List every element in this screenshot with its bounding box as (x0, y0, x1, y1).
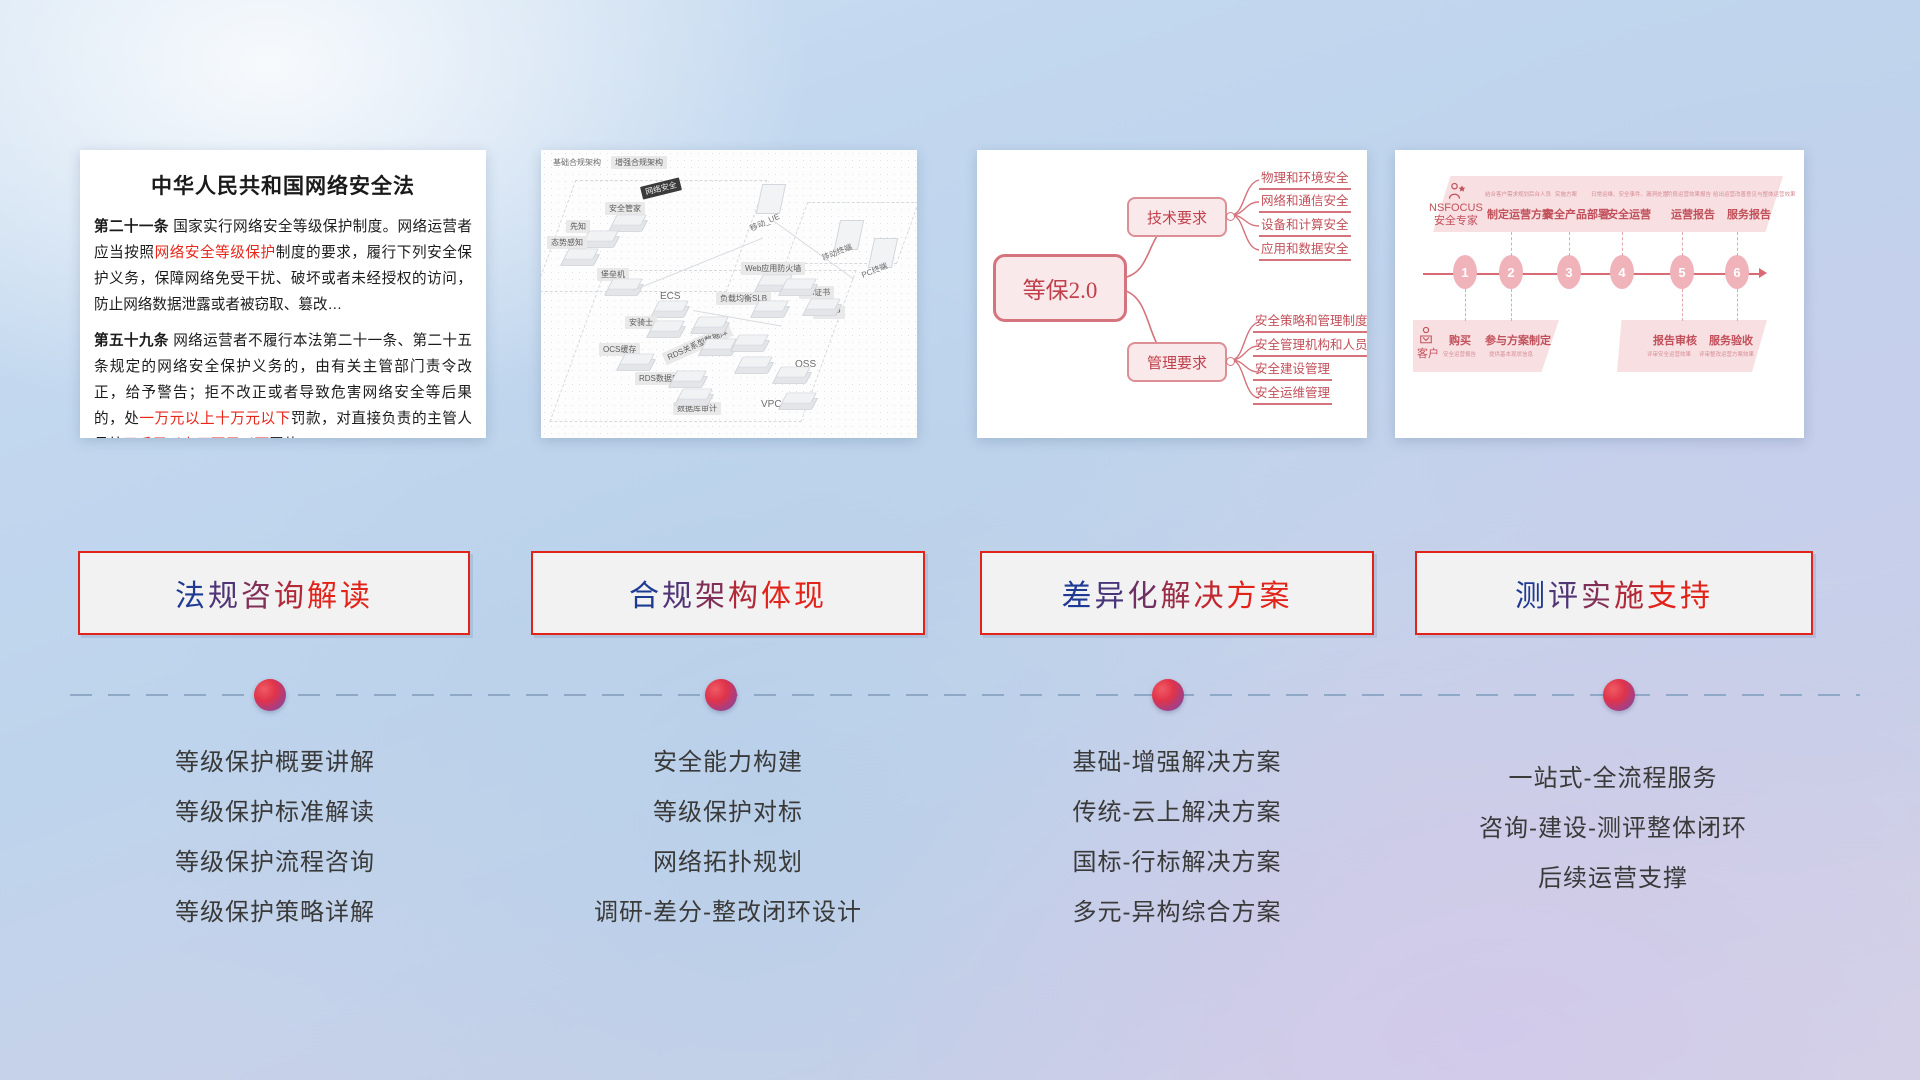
mindmap-branch-management[interactable]: 管理要求 (1127, 342, 1227, 382)
process-top-sub-2: 实施方案 (1555, 190, 1577, 198)
mindmap-collapse-icon-technical[interactable] (1226, 212, 1235, 221)
arch-node-label-waf: Web应用防火墙 (741, 262, 805, 275)
process-step-6-marker[interactable]: 6 (1725, 255, 1749, 289)
headline-box-3[interactable]: 差异化解决方案 (980, 551, 1374, 635)
process-top-sub-4: 阶段运营效果报告 (1667, 190, 1711, 198)
arch-tab-basic[interactable]: 基础合规架构 (549, 156, 605, 169)
arch-icon-ecs-pool-4 (737, 358, 771, 378)
slide-canvas: 中华人民共和国网络安全法 第二十一条 国家实行网络安全等级保护制度。网络运营者应… (0, 0, 1920, 1080)
headline-box-4[interactable]: 测评实施支持 (1415, 551, 1813, 635)
mindmap-leaf-app-data: 应用和数据安全 (1259, 238, 1351, 261)
arch-icon-ecs-pool-1 (693, 318, 727, 338)
law-paragraph-2: 第五十九条 网络运营者不履行本法第二十一条、第二十五条规定的网络安全保护义务的，… (94, 328, 472, 438)
process-bottom-label-5: 报告审核 (1653, 332, 1697, 348)
process-top-sub-1: 结合客户需求规划后台人员 (1485, 190, 1551, 198)
arch-node-label-security-steward: 安全管家 (605, 202, 645, 215)
mindmap-leaf-org-personnel: 安全管理机构和人员 (1253, 334, 1367, 357)
headline-row: 法规咨询解读 合规架构体现 差异化解决方案 测评实施支持 (0, 551, 1920, 635)
law-title: 中华人民共和国网络安全法 (94, 170, 472, 200)
list-item: 国标-行标解决方案 (977, 838, 1377, 888)
process-step-5-marker[interactable]: 5 (1670, 255, 1694, 289)
process-bottom-label-2: 参与方案制定 (1485, 332, 1551, 348)
process-step-2-marker[interactable]: 2 (1499, 255, 1523, 289)
list-item: 等级保护概要讲解 (75, 738, 475, 788)
process-bottom-sub-5: 评审安全运营效果 (1647, 350, 1691, 358)
detail-column-4: 一站式-全流程服务 咨询-建设-测评整体闭环 后续运营支撑 (1408, 738, 1818, 904)
process-bottom-sub-2: 提供基本现状信息 (1489, 350, 1533, 358)
arch-icon-bastion (607, 280, 641, 300)
process-band-provider (1433, 176, 1783, 232)
arch-icon-db-audit (677, 390, 711, 410)
law-p2-highlight-2: 五千元以上五万元以下 (123, 437, 269, 438)
process-axis-arrow-icon (1759, 268, 1767, 278)
timeline-bead-2[interactable] (705, 679, 737, 711)
list-item: 基础-增强解决方案 (977, 738, 1377, 788)
process-connector-4 (1622, 232, 1624, 256)
mindmap-branch-technical[interactable]: 技术要求 (1127, 197, 1227, 237)
process-connector-2b (1511, 289, 1513, 321)
arch-tab-enhanced[interactable]: 增强合规架构 (611, 156, 667, 169)
process-step-3-marker[interactable]: 3 (1557, 255, 1581, 289)
law-document: 中华人民共和国网络安全法 第二十一条 国家实行网络安全等级保护制度。网络运营者应… (80, 150, 486, 438)
mindmap-leaf-physical-env: 物理和环境安全 (1259, 167, 1351, 190)
mindmap-leaf-construction: 安全建设管理 (1253, 358, 1332, 381)
process-top-sub-3: 日常运维、安全事件、漏洞处置 (1591, 190, 1668, 198)
timeline-bead-3[interactable] (1152, 679, 1184, 711)
list-item: 安全能力构建 (528, 738, 928, 788)
arch-icon-ca (781, 280, 815, 300)
list-item: 网络拓扑规划 (528, 838, 928, 888)
timeline-bead-4[interactable] (1603, 679, 1635, 711)
cloud-architecture-diagram: 基础合规架构 增强合规架构 网络安全 安全管家 先知 态势感知 堡垒机 ECS … (541, 150, 917, 438)
detail-column-2: 安全能力构建 等级保护对标 网络拓扑规划 调研-差分-整改闭环设计 (528, 738, 928, 938)
arch-icon-anqishi (649, 322, 683, 342)
headline-text-1: 法规咨询解读 (175, 571, 373, 615)
process-top-label-2: 安全产品部署 (1543, 206, 1609, 222)
provider-brand: NSFOCUS (1429, 202, 1483, 214)
headline-text-4: 测评实施支持 (1515, 571, 1713, 615)
mindmap-leaf-device-compute: 设备和计算安全 (1259, 214, 1351, 237)
mindmap-leaf-operations: 安全运维管理 (1253, 382, 1332, 405)
list-item: 传统-云上解决方案 (977, 788, 1377, 838)
provider-role: 安全专家 (1434, 215, 1478, 227)
process-connector-5b (1682, 289, 1684, 321)
arch-icon-anti-ddos (805, 300, 839, 320)
list-item: 调研-差分-整改闭环设计 (528, 888, 928, 938)
arch-icon-ecs (653, 302, 687, 322)
arch-icon-oss (775, 368, 809, 388)
process-top-label-3: 安全运营 (1607, 206, 1651, 222)
law-paragraph-1: 第二十一条 国家实行网络安全等级保护制度。网络运营者应当按照网络安全等级保护制度… (94, 214, 472, 318)
process-connector-3 (1569, 232, 1571, 256)
arch-icon-vpc (781, 394, 815, 414)
process-connector-1b (1465, 289, 1467, 321)
process-bottom-label-6: 服务验收 (1709, 332, 1753, 348)
process-connector-6b (1737, 289, 1739, 321)
process-connector-5 (1682, 232, 1684, 256)
dengbao-mindmap: 等保2.0 技术要求 物理和环境安全 网络和通信安全 设备和计算安全 应用和数据… (977, 150, 1367, 438)
process-top-label-5: 服务报告 (1727, 206, 1771, 222)
process-step-1-marker[interactable]: 1 (1453, 255, 1477, 289)
list-item: 多元-异构综合方案 (977, 888, 1377, 938)
list-item: 等级保护标准解读 (75, 788, 475, 838)
process-bottom-label-1: 购买 (1449, 332, 1471, 348)
expert-person-icon (1447, 182, 1467, 202)
provider-actor-label: NSFOCUS 安全专家 (1429, 202, 1483, 228)
process-connector-6 (1737, 232, 1739, 256)
arch-icon-situation-awareness (563, 250, 597, 270)
process-step-4-marker[interactable]: 4 (1610, 255, 1634, 289)
list-item: 等级保护流程咨询 (75, 838, 475, 888)
process-top-label-4: 运营报告 (1671, 206, 1715, 222)
list-item: 咨询-建设-测评整体闭环 (1408, 804, 1818, 854)
mindmap-collapse-icon-management[interactable] (1226, 357, 1235, 366)
architecture-card[interactable]: 基础合规架构 增强合规架构 网络安全 安全管家 先知 态势感知 堡垒机 ECS … (541, 150, 917, 438)
mindmap-card[interactable]: 等保2.0 技术要求 物理和环境安全 网络和通信安全 设备和计算安全 应用和数据… (977, 150, 1367, 438)
law-article-59-label: 第五十九条 (94, 333, 173, 349)
law-p2-highlight-1: 一万元以上十万元以下 (139, 411, 290, 427)
list-item: 等级保护对标 (528, 788, 928, 838)
customer-actor-label: 客户 (1417, 348, 1439, 361)
process-card[interactable]: NSFOCUS 安全专家 结合客户需求规划后台人员 制定运营方案 实施方案 安全… (1395, 150, 1804, 438)
detail-column-3: 基础-增强解决方案 传统-云上解决方案 国标-行标解决方案 多元-异构综合方案 (977, 738, 1377, 938)
customer-person-icon (1417, 326, 1435, 346)
law-card[interactable]: 中华人民共和国网络安全法 第二十一条 国家实行网络安全等级保护制度。网络运营者应… (80, 150, 486, 438)
timeline-bead-1[interactable] (254, 679, 286, 711)
process-top-sub-5: 给出运营改善意见与整体运营效果 (1713, 190, 1796, 198)
list-item: 一站式-全流程服务 (1408, 754, 1818, 804)
arch-node-label-situation-awareness: 态势感知 (547, 236, 587, 249)
headline-text-3: 差异化解决方案 (1062, 571, 1293, 615)
process-bottom-sub-6: 评审整改运营方案效果 (1699, 350, 1754, 358)
process-bottom-sub-1: 安全运营报告 (1443, 350, 1476, 358)
law-article-21-label: 第二十一条 (94, 219, 173, 235)
list-item: 后续运营支撑 (1408, 854, 1818, 904)
list-item: 等级保护策略详解 (75, 888, 475, 938)
timeline-dashed-line (70, 694, 1860, 696)
law-p1-highlight: 网络安全等级保护 (155, 245, 276, 261)
detail-column-1: 等级保护概要讲解 等级保护标准解读 等级保护流程咨询 等级保护策略详解 (75, 738, 475, 938)
mindmap-leaf-policy-system: 安全策略和管理制度 (1253, 310, 1367, 333)
headline-text-2: 合规架构体现 (629, 571, 827, 615)
service-process-diagram: NSFOCUS 安全专家 结合客户需求规划后台人员 制定运营方案 实施方案 安全… (1395, 150, 1804, 438)
headline-box-1[interactable]: 法规咨询解读 (78, 551, 470, 635)
law-p2-text-c: 罚款。 (269, 437, 313, 438)
arch-icon-slb (753, 302, 787, 322)
mindmap-leaf-network-comm: 网络和通信安全 (1259, 190, 1351, 213)
arch-icon-mobile-ue (756, 184, 786, 214)
mindmap-root[interactable]: 等保2.0 (993, 254, 1127, 322)
process-connector-2 (1511, 232, 1513, 256)
arch-icon-ecs-pool-3 (733, 336, 767, 356)
image-card-row: 中华人民共和国网络安全法 第二十一条 国家实行网络安全等级保护制度。网络运营者应… (0, 150, 1920, 442)
headline-box-2[interactable]: 合规架构体现 (531, 551, 925, 635)
